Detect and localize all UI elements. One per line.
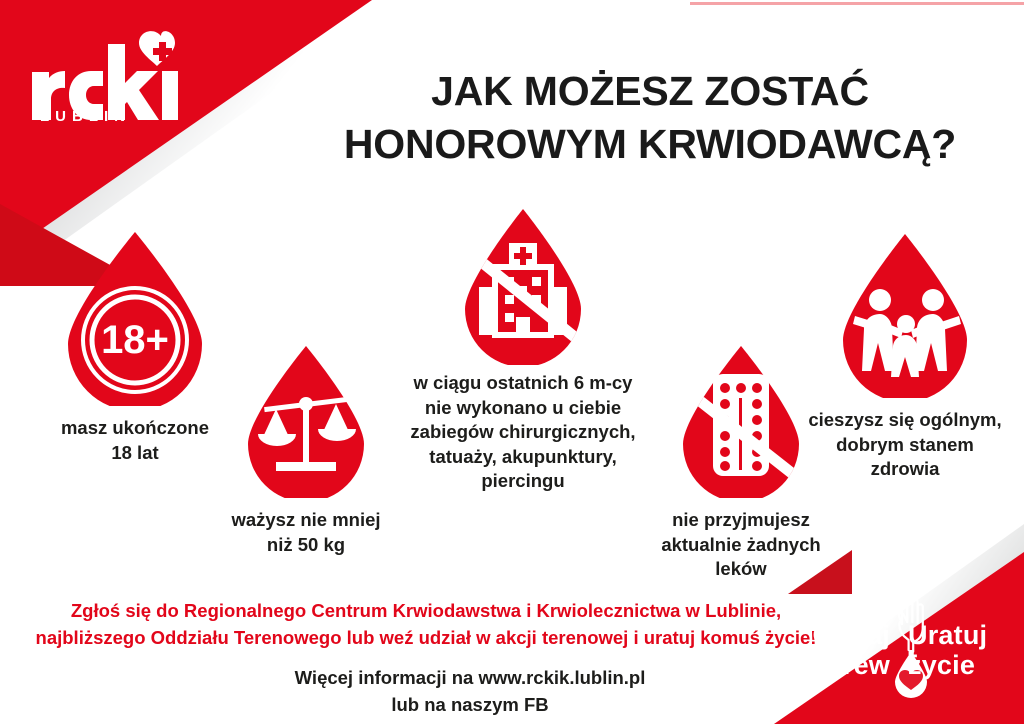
top-rule-divider [690,2,1024,5]
caption-line: ważysz nie mniej [196,508,416,533]
slogan-right-line-2: życie [908,650,1008,680]
caption-line: nie wykonano u ciebie [378,396,668,421]
cta-line-2: najbliższego Oddziału Terenowego lub weź… [20,625,832,652]
page-title: JAK MOŻESZ ZOSTAĆ HONOROWYM KRWIODAWCĄ? [300,65,1000,170]
info-line-1: Więcej informacji na www.rckik.lublin.pl [120,665,820,692]
criterion-weight-caption: ważysz nie mniej niż 50 kg [196,508,416,557]
slogan-left-line-2: krew [794,650,890,680]
page-title-line-1: JAK MOŻESZ ZOSTAĆ [300,65,1000,117]
call-to-action-text: Zgłoś się do Regionalnego Centrum Krwiod… [20,598,832,652]
caption-line: cieszysz się ogólnym, [790,408,1020,433]
slogan-left: Oddaj krew [794,620,890,680]
blood-drop-scales-icon [232,342,380,498]
oddaj-krew-uratuj-zycie-logo: Oddaj krew Uratuj życie [790,594,1010,702]
page-title-line-2: HONOROWYM KRWIODAWCĄ? [300,118,1000,170]
caption-line: niż 50 kg [196,533,416,558]
caption-line: w ciągu ostatnich 6 m-cy [378,371,668,396]
criterion-medications-caption: nie przyjmujesz aktualnie żadnych leków [628,508,854,582]
criterion-surgery: w ciągu ostatnich 6 m-cy nie wykonano u … [378,205,668,494]
caption-line: dobrym stanem [790,433,1020,458]
criterion-surgery-caption: w ciągu ostatnich 6 m-cy nie wykonano u … [378,371,668,494]
cta-line-1: Zgłoś się do Regionalnego Centrum Krwiod… [20,598,832,625]
rckik-logo-subtitle: LUBLIN [40,108,131,125]
blood-drop-family-icon [825,230,985,398]
caption-line: zabiegów chirurgicznych, [378,420,668,445]
caption-line: aktualnie żadnych [628,533,854,558]
poster-canvas: LUBLIN JAK MOŻESZ ZOSTAĆ HONOROWYM KRWIO… [0,0,1024,724]
caption-line: piercingu [378,469,668,494]
more-info-text: Więcej informacji na www.rckik.lublin.pl… [120,665,820,719]
slogan-left-line-1: Oddaj [794,620,890,650]
caption-line: tatuaży, akupunktury, [378,445,668,470]
criterion-health-caption: cieszysz się ogólnym, dobrym stanem zdro… [790,408,1020,482]
info-line-2: lub na naszym FB [120,692,820,719]
criterion-health: cieszysz się ogólnym, dobrym stanem zdro… [790,230,1020,482]
caption-line: nie przyjmujesz [628,508,854,533]
blood-drop-18plus-icon: 18+ [50,228,220,406]
slogan-right: Uratuj życie [908,620,1008,680]
blood-drop-hospital-no-icon [447,205,599,365]
svg-text:18+: 18+ [101,318,169,362]
caption-line: zdrowia [790,457,1020,482]
slogan-right-line-1: Uratuj [908,620,1008,650]
